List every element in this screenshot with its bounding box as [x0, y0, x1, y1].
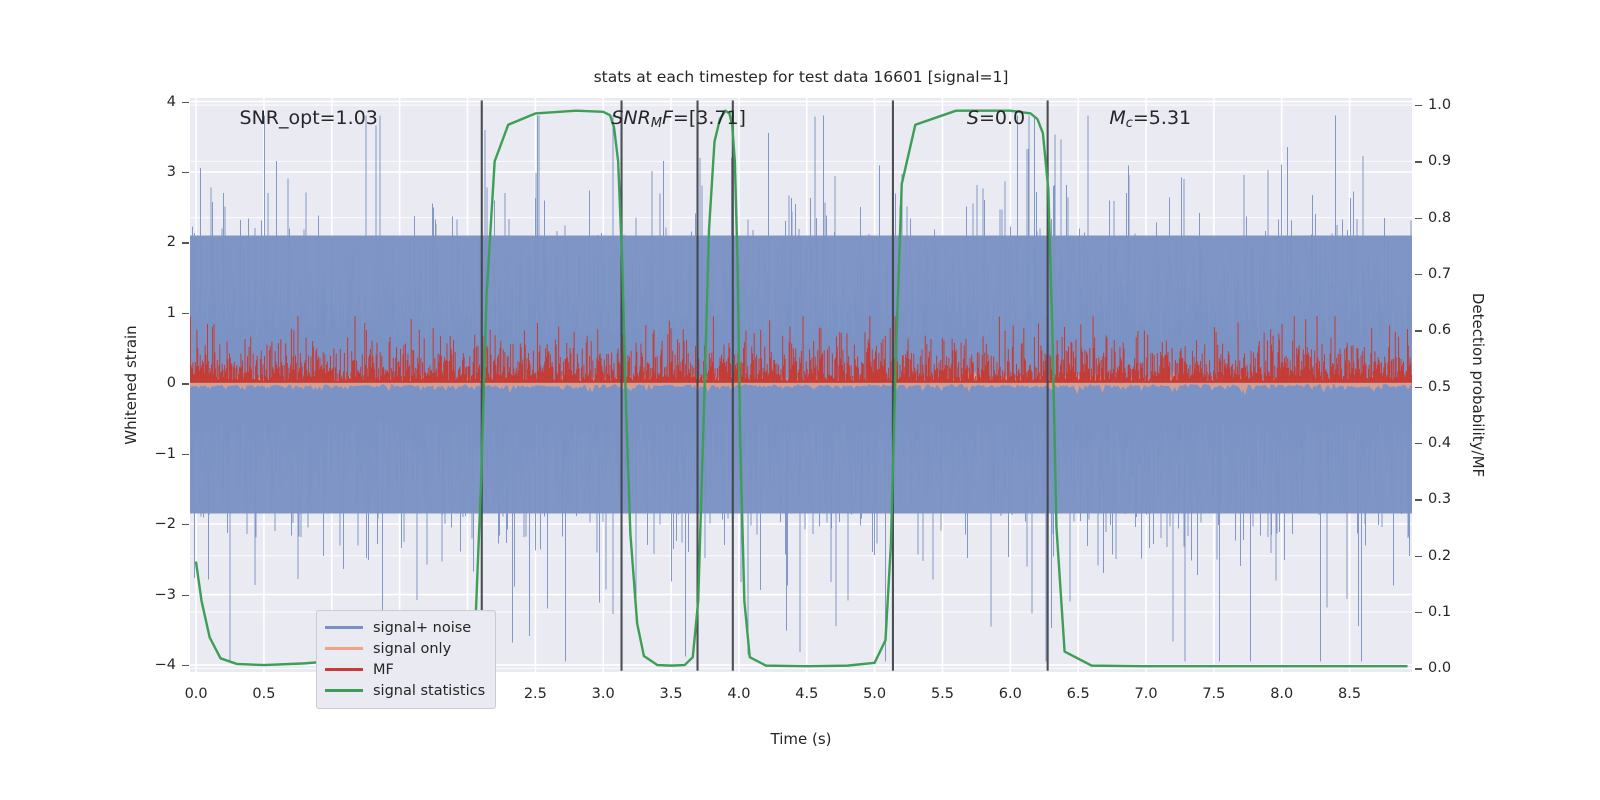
x-axis-tick-label: 8.5 [1338, 686, 1361, 702]
y-axis-left-tick-label: −2 [130, 516, 176, 532]
legend-color-swatch-icon [325, 668, 363, 670]
y-axis-left-tick-mark [182, 524, 189, 525]
y-axis-right-tick-mark [1415, 105, 1422, 106]
y-axis-right-tick-label: 0.9 [1428, 153, 1451, 169]
legend-color-swatch-icon [325, 647, 363, 649]
x-axis-tick-label: 5.0 [863, 686, 886, 702]
legend-color-swatch-icon [325, 626, 363, 628]
x-axis-tick-label: 0.0 [185, 686, 208, 702]
y-axis-right-tick-label: 0.2 [1428, 548, 1451, 564]
x-axis-tick-label: 0.5 [252, 686, 275, 702]
figure-canvas: stats at each timestep for test data 166… [0, 0, 1600, 800]
y-axis-right-tick-mark [1415, 499, 1422, 500]
legend-item[interactable]: MF [325, 659, 487, 680]
y-axis-left-tick-label: 0 [130, 375, 176, 391]
x-axis-label: Time (s) [190, 730, 1412, 748]
legend-item[interactable]: signal+ noise [325, 617, 487, 638]
x-axis-tick-label: 5.5 [931, 686, 954, 702]
y-axis-right-tick-label: 0.8 [1428, 210, 1451, 226]
y-axis-right-tick-label: 0.3 [1428, 491, 1451, 507]
y-axis-left-tick-mark [182, 172, 189, 173]
y-axis-left-tick-mark [182, 665, 189, 666]
y-axis-right-tick-label: 0.4 [1428, 435, 1451, 451]
y-axis-right-tick-label: 0.5 [1428, 379, 1451, 395]
y-axis-right-tick-label: 0.1 [1428, 604, 1451, 620]
legend-item[interactable]: signal statistics [325, 680, 487, 701]
y-axis-right-label: Detection probability/MF [1469, 293, 1487, 477]
y-axis-right-tick-label: 0.6 [1428, 322, 1451, 338]
y-axis-right-tick-label: 0.0 [1428, 660, 1451, 676]
x-axis-tick-label: 7.0 [1134, 686, 1157, 702]
y-axis-left-tick-mark [182, 242, 189, 243]
data-series-layer [190, 98, 1412, 672]
y-axis-left-tick-label: −4 [130, 657, 176, 673]
x-axis-tick-label: 6.0 [999, 686, 1022, 702]
y-axis-right-tick-mark [1415, 668, 1422, 669]
plot-area [190, 98, 1412, 672]
legend-item-label: MF [373, 662, 394, 678]
y-axis-right-tick-mark [1415, 556, 1422, 557]
y-axis-left-tick-mark [182, 102, 189, 103]
legend-color-swatch-icon [325, 689, 363, 691]
x-axis-tick-label: 7.5 [1202, 686, 1225, 702]
y-axis-right-tick-label: 0.7 [1428, 266, 1451, 282]
legend-item-label: signal only [373, 641, 451, 657]
s-annotation: S=0.0 [967, 107, 1025, 129]
x-axis-tick-label: 4.5 [795, 686, 818, 702]
legend-item-label: signal statistics [373, 683, 485, 699]
y-axis-left-tick-label: −1 [130, 446, 176, 462]
y-axis-left-tick-mark [182, 454, 189, 455]
y-axis-left-tick-mark [182, 383, 189, 384]
y-axis-right-tick-label: 1.0 [1428, 97, 1451, 113]
y-axis-left-tick-label: 4 [130, 94, 176, 110]
y-axis-left-tick-label: 1 [130, 305, 176, 321]
y-axis-right-tick-mark [1415, 387, 1422, 388]
x-axis-tick-label: 6.5 [1067, 686, 1090, 702]
x-axis-tick-label: 3.5 [660, 686, 683, 702]
y-axis-left-tick-label: 3 [130, 164, 176, 180]
y-axis-left-tick-label: −3 [130, 587, 176, 603]
y-axis-left-tick-label: 2 [130, 234, 176, 250]
x-axis-tick-label: 3.0 [592, 686, 615, 702]
mc-annotation: Mc=5.31 [1109, 107, 1191, 131]
y-axis-left-tick-mark [182, 313, 189, 314]
y-axis-right-tick-mark [1415, 274, 1422, 275]
y-axis-right-tick-mark [1415, 218, 1422, 219]
x-axis-tick-label: 4.0 [727, 686, 750, 702]
x-axis-tick-label: 8.0 [1270, 686, 1293, 702]
y-axis-right-tick-mark [1415, 330, 1422, 331]
y-axis-right-tick-mark [1415, 612, 1422, 613]
snr-mf-annotation: SNRMF=[3.71] [611, 107, 746, 131]
legend-item-label: signal+ noise [373, 620, 471, 636]
legend[interactable]: signal+ noisesignal onlyMFsignal statist… [316, 610, 496, 709]
page-title: stats at each timestep for test data 166… [190, 68, 1412, 86]
snr-opt-annotation: SNR_opt=1.03 [240, 107, 378, 129]
legend-item[interactable]: signal only [325, 638, 487, 659]
y-axis-left-tick-mark [182, 595, 189, 596]
y-axis-right-tick-mark [1415, 443, 1422, 444]
y-axis-right-tick-mark [1415, 161, 1422, 162]
x-axis-tick-label: 2.5 [524, 686, 547, 702]
